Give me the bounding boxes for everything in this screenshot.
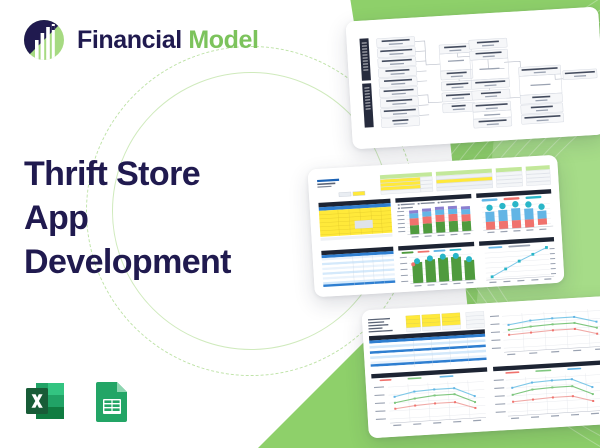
brand-word-model: Model <box>188 26 258 54</box>
trend-charts-thumbnail-icon <box>361 296 600 439</box>
financial-model-circle-chart-logo-icon <box>22 18 66 62</box>
green-triangle-wedge <box>248 340 366 448</box>
title-line-3: Development <box>24 240 324 284</box>
title-line-1: Thrift Store <box>24 152 324 196</box>
trend-line-charts-preview[interactable] <box>361 296 600 439</box>
dupont-ratio-tree-preview[interactable] <box>345 7 600 150</box>
brand-wordmark: Financial Model <box>77 26 259 55</box>
ratio-tree-thumbnail-icon <box>345 7 600 150</box>
google-sheets-icon[interactable] <box>89 378 135 424</box>
brand-logo[interactable]: Financial Model <box>22 18 259 62</box>
dashboard-thumbnail-icon <box>307 155 564 298</box>
page-title: Thrift Store App Development <box>24 152 324 285</box>
financial-dashboard-preview[interactable] <box>307 155 564 298</box>
poster-canvas: Financial Model Thrift Store App Develop… <box>0 0 600 448</box>
microsoft-excel-icon[interactable] <box>22 378 68 424</box>
file-format-icons <box>22 378 135 424</box>
brand-word-financial: Financial <box>77 26 182 54</box>
title-line-2: App <box>24 196 324 240</box>
